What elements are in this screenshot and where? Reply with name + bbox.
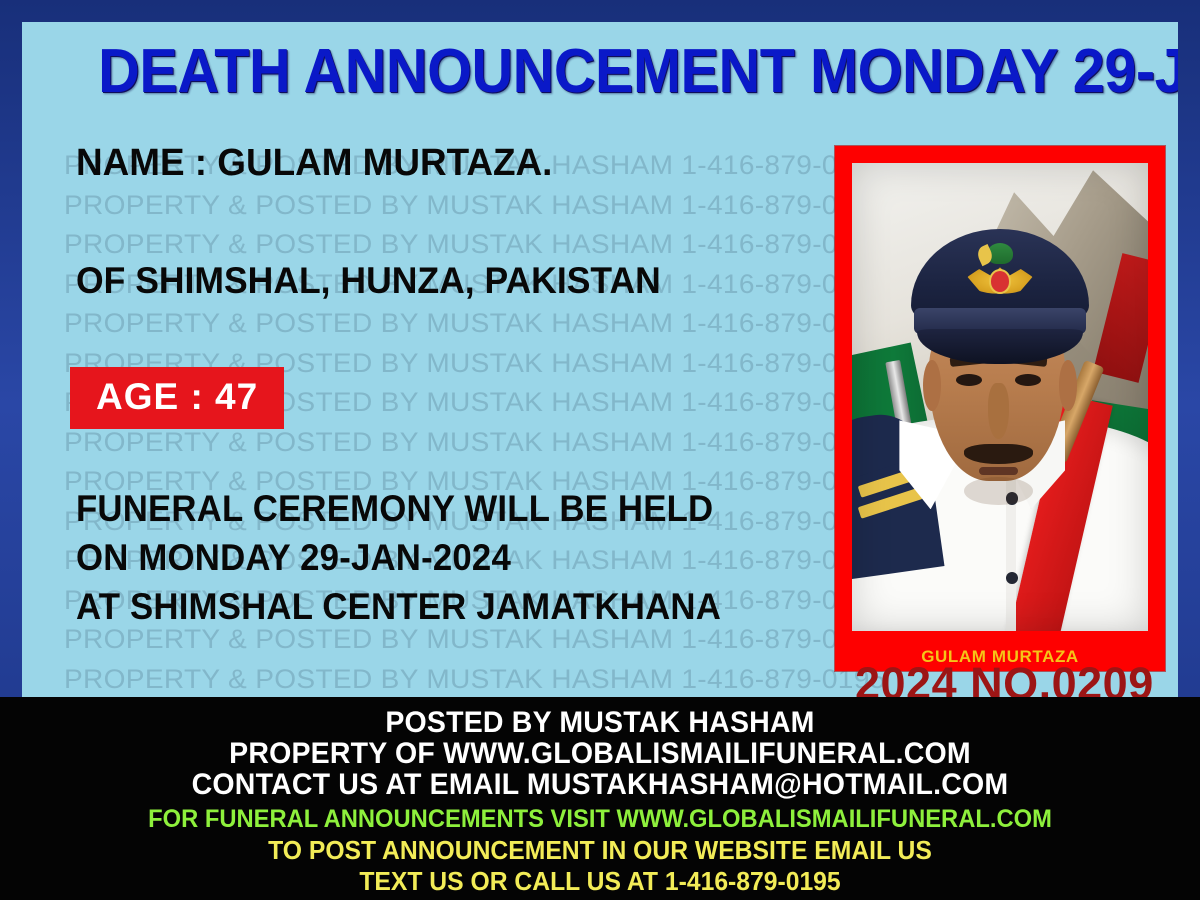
portrait-photo	[852, 163, 1148, 631]
page-title: DEATH ANNOUNCEMENT MONDAY 29-JAN-2024	[98, 39, 1112, 105]
footer-line-contact-email: CONTACT US AT EMAIL MUSTAKHASHAM@HOTMAIL…	[30, 769, 1170, 800]
photo-chin	[964, 477, 1032, 505]
photo-nose	[988, 383, 1009, 439]
card-content: DEATH ANNOUNCEMENT MONDAY 29-JAN-2024 NA…	[22, 22, 1178, 697]
footer-line-property-of: PROPERTY OF WWW.GLOBALISMAILIFUNERAL.COM	[30, 738, 1170, 769]
announcement-card: PROPERTY & POSTED BY MUSTAK HASHAM 1-416…	[22, 22, 1178, 697]
funeral-line-1: FUNERAL CEREMONY WILL BE HELD	[76, 484, 790, 533]
deceased-origin-line: OF SHIMSHAL, HUNZA, PAKISTAN	[76, 259, 661, 303]
funeral-line-3: AT SHIMSHAL CENTER JAMATKHANA	[76, 582, 790, 631]
funeral-line-2: ON MONDAY 29-JAN-2024	[76, 533, 790, 582]
reference-number: 2024 NO.0209	[855, 659, 1154, 697]
footer-line-posted-by: POSTED BY MUSTAK HASHAM	[30, 707, 1170, 738]
photo-mouth	[979, 467, 1017, 474]
photo-ear-left	[923, 360, 941, 411]
death-announcement-poster: PROPERTY & POSTED BY MUSTAK HASHAM 1-416…	[0, 0, 1200, 900]
funeral-details: FUNERAL CEREMONY WILL BE HELD ON MONDAY …	[76, 484, 836, 631]
deceased-name-line: NAME : GULAM MURTAZA.	[76, 141, 552, 185]
photo-cap-badge	[967, 243, 1032, 304]
footer-line-post-announcement: TO POST ANNOUNCEMENT IN OUR WEBSITE EMAI…	[30, 835, 1170, 866]
age-badge: AGE : 47	[70, 367, 284, 429]
footer-line-phone: TEXT US OR CALL US AT 1-416-879-0195	[30, 866, 1170, 897]
photo-eye-left	[956, 374, 983, 386]
photo-eye-right	[1015, 374, 1042, 386]
footer-line-visit-website: FOR FUNERAL ANNOUNCEMENTS VISIT WWW.GLOB…	[30, 803, 1170, 835]
footer-band: POSTED BY MUSTAK HASHAM PROPERTY OF WWW.…	[0, 697, 1200, 900]
portrait-photo-frame: GULAM MURTAZA	[835, 146, 1165, 671]
photo-ear-right	[1059, 360, 1077, 411]
photo-cap-badge-center	[989, 269, 1011, 293]
